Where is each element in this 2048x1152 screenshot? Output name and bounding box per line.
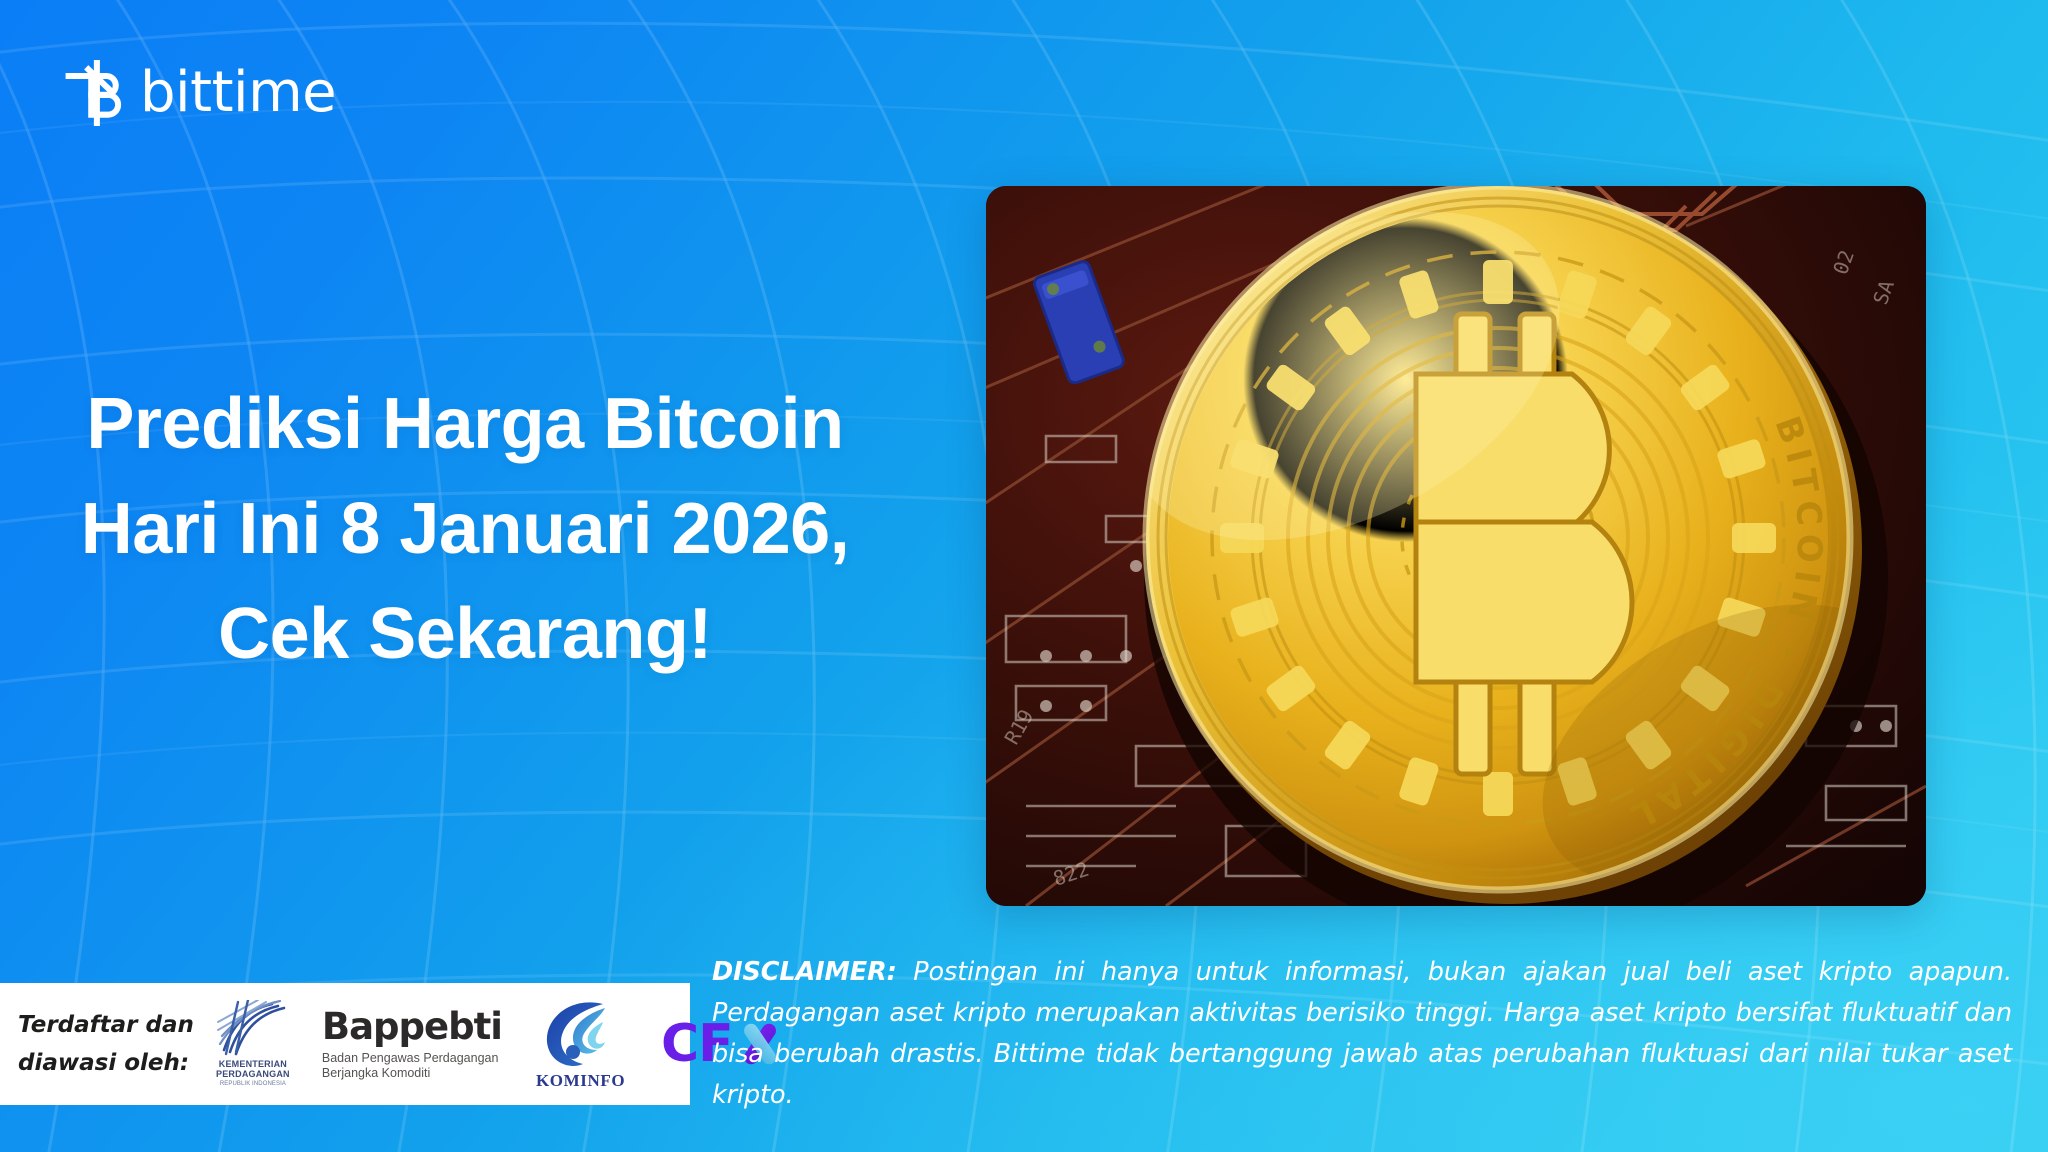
kemendag-badge: KEMENTERIAN PERDAGANGAN REPUBLIK INDONES… [216, 1000, 290, 1089]
regulator-badge-strip: Terdaftar dan diawasi oleh: [0, 983, 690, 1105]
regulator-lead-text: Terdaftar dan diawasi oleh: [18, 1006, 194, 1082]
disclaimer-label: DISCLAIMER: [712, 957, 897, 987]
disclaimer-text: DISCLAIMER: Postingan ini hanya untuk in… [712, 952, 2012, 1116]
kemendag-line-1: KEMENTERIAN [219, 1059, 287, 1069]
kominfo-name: KOMINFO [536, 1071, 625, 1091]
bappebti-badge: Bappebti Badan Pengawas Perdagangan Berj… [322, 1007, 502, 1081]
regulator-lead-line-2: diawasi oleh: [18, 1044, 194, 1082]
regulator-lead-line-1: Terdaftar dan [18, 1006, 194, 1044]
disclaimer-body: Postingan ini hanya untuk informasi, buk… [712, 957, 2012, 1110]
page-title-line-2: Hari Ini 8 Januari 2026, [0, 477, 930, 582]
bappebti-sub-line-1: Badan Pengawas Perdagangan [322, 1051, 499, 1065]
kominfo-badge: KOMINFO [536, 998, 625, 1091]
kemendag-line-2: PERDAGANGAN [216, 1069, 290, 1079]
bappebti-sub-line-2: Berjangka Komoditi [322, 1066, 430, 1080]
hero-image-bitcoin-coin: 02 R21 822 R19 SA 02 [986, 186, 1926, 906]
kominfo-logo-icon [543, 998, 619, 1070]
bappebti-name: Bappebti [322, 1007, 502, 1047]
banner-canvas: bittime Prediksi Harga Bitcoin Hari Ini … [0, 0, 2048, 1152]
kemendag-logo-icon [216, 1000, 290, 1056]
kemendag-line-3: REPUBLIK INDONESIA [216, 1079, 290, 1089]
bittime-logo[interactable]: bittime [64, 60, 336, 126]
page-title: Prediksi Harga Bitcoin Hari Ini 8 Januar… [0, 372, 930, 687]
bappebti-subtitle: Badan Pengawas Perdagangan Berjangka Kom… [322, 1051, 502, 1081]
page-title-line-1: Prediksi Harga Bitcoin [0, 372, 930, 477]
page-title-line-3: Cek Sekarang! [0, 582, 930, 687]
kemendag-caption: KEMENTERIAN PERDAGANGAN REPUBLIK INDONES… [216, 1059, 290, 1089]
bittime-b-mark-icon [64, 60, 126, 126]
brand-name: bittime [140, 65, 336, 121]
